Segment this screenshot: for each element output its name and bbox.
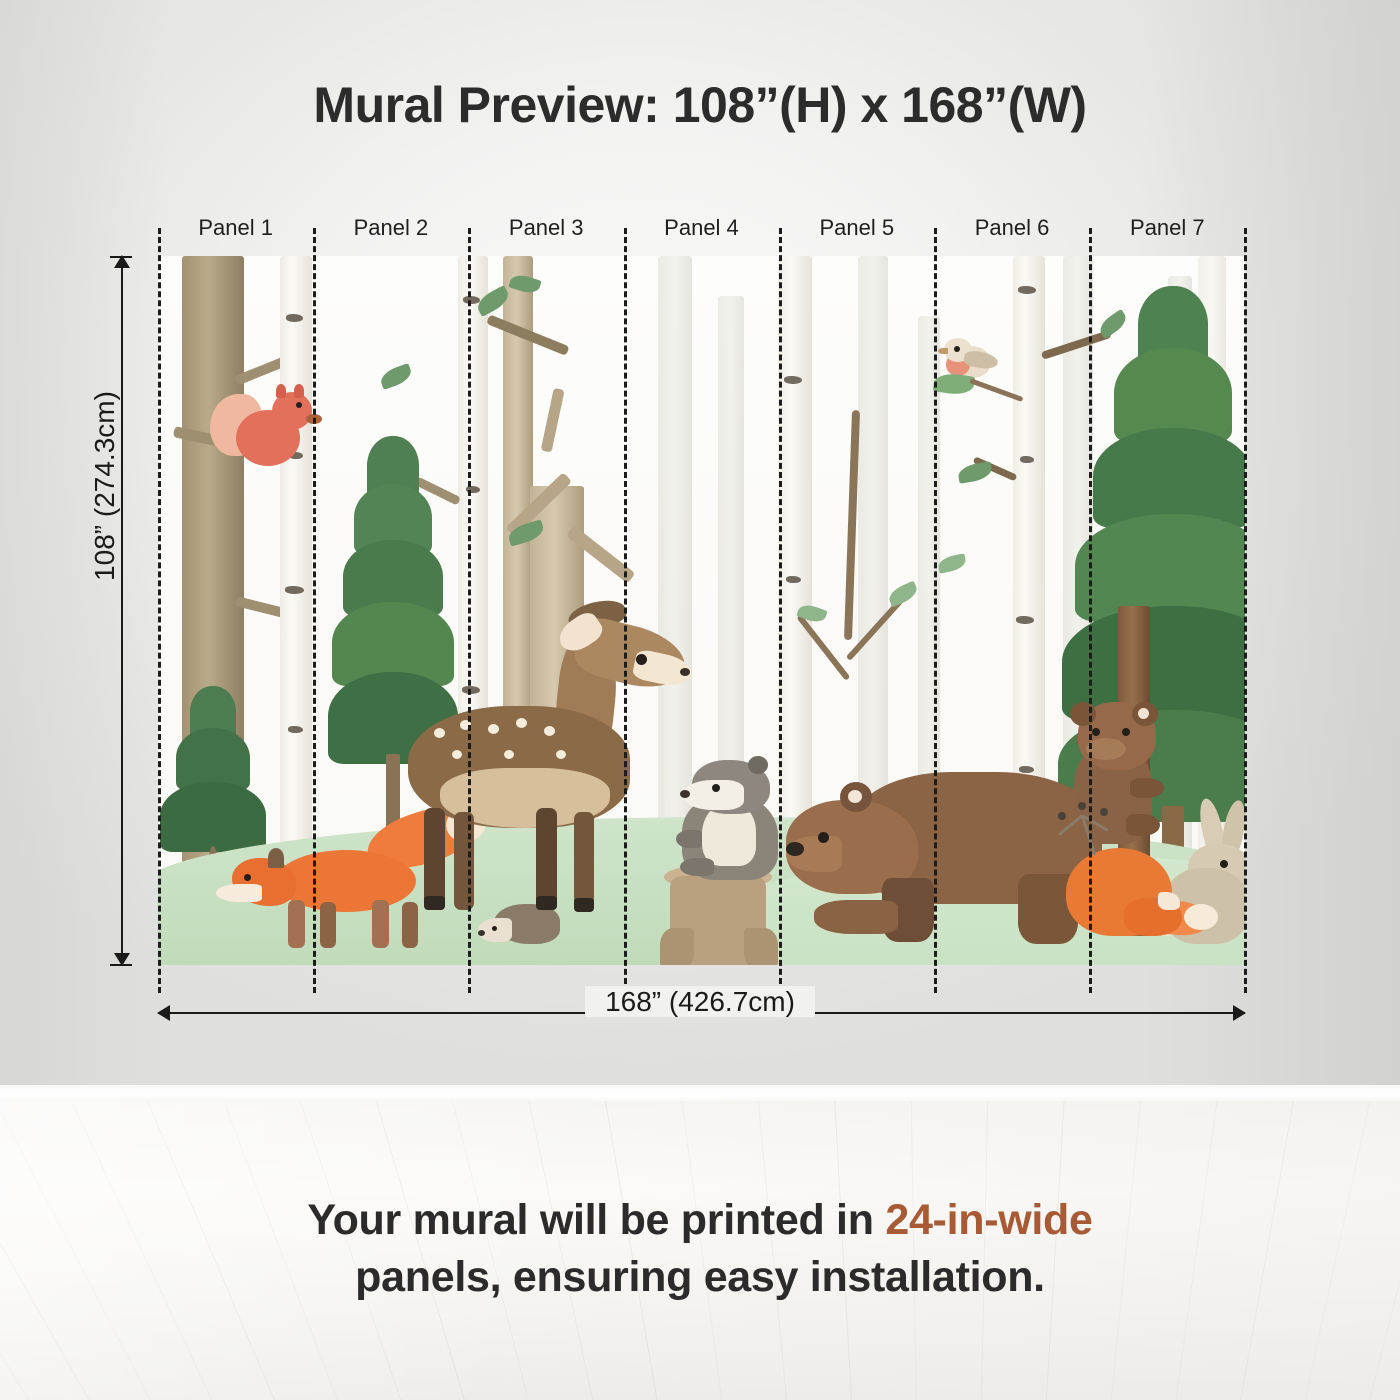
panel-divider-1 — [158, 228, 161, 993]
deer-hoof — [424, 896, 445, 910]
birch-mark — [784, 376, 802, 384]
rabbit-eye — [1220, 860, 1228, 868]
fox-snout — [216, 884, 262, 902]
berry — [1058, 812, 1066, 820]
badger — [654, 754, 784, 880]
panel-label-2: Panel 2 — [313, 213, 468, 245]
badger-eye — [712, 784, 720, 792]
berry — [1100, 808, 1108, 816]
berry — [1078, 802, 1086, 810]
panel-label-row: Panel 1 Panel 2 Panel 3 Panel 4 Panel 5 … — [158, 213, 1245, 245]
panel-divider-4 — [624, 228, 627, 993]
fox-eye — [244, 874, 251, 881]
badger-ear — [748, 756, 768, 774]
bear-eye — [818, 832, 829, 843]
badger-paw — [680, 858, 714, 876]
fox-leg — [320, 902, 336, 948]
berry-sprig — [1056, 802, 1118, 864]
badger-paw — [676, 830, 702, 848]
mural-artwork[interactable] — [158, 256, 1245, 965]
width-dimension-text: 168” (426.7cm) — [585, 986, 815, 1017]
squirrel-ear — [294, 384, 304, 398]
width-dimension-label: 168” (426.7cm) — [0, 986, 1400, 1018]
deer-spot — [488, 724, 499, 734]
caption-line-1: Your mural will be printed in 24-in-wide — [0, 1192, 1400, 1249]
caption-accent-text: 24-in-wide — [885, 1196, 1092, 1244]
height-dimension-label: 108” (274.3cm) — [89, 336, 121, 636]
deer-nose — [680, 668, 690, 676]
stump-root — [660, 928, 694, 965]
deer-leg — [536, 808, 557, 910]
footer-caption: Your mural will be printed in 24-in-wide… — [0, 1192, 1400, 1306]
panel-label-4: Panel 4 — [624, 213, 779, 245]
stump-root — [744, 928, 778, 965]
deer-hoof — [574, 898, 594, 912]
height-dimension-arrow — [121, 256, 123, 965]
cub-eye — [1122, 728, 1130, 736]
deer-spot — [504, 750, 514, 759]
caption-line1-text: Your mural will be printed in — [307, 1196, 885, 1244]
cub-eye — [1092, 728, 1100, 736]
deer-spot — [452, 750, 462, 759]
deer-eye — [636, 654, 647, 665]
panel-label-7: Panel 7 — [1090, 213, 1245, 245]
birch-mark — [1016, 616, 1034, 624]
deer-spot — [516, 718, 527, 728]
panel-divider-7 — [1089, 228, 1092, 993]
fox-leg — [372, 900, 389, 948]
birch-mark — [1018, 286, 1036, 294]
hedgehog-nose — [478, 930, 485, 936]
panel-divider-8 — [1244, 228, 1247, 993]
panel-divider-3 — [468, 228, 471, 993]
cub-snout — [1086, 738, 1126, 760]
birch-mark — [286, 314, 303, 322]
cub-ear-inner — [1138, 708, 1149, 719]
squirrel-eye — [296, 402, 302, 408]
bird-eye — [954, 346, 960, 352]
fox-ear — [268, 848, 284, 868]
wall-shadow-left — [0, 0, 170, 1100]
deer-leg — [574, 812, 594, 912]
deer-spot — [556, 750, 566, 759]
birch-mark — [786, 576, 801, 583]
fox-leg — [288, 900, 305, 948]
panel-label-1: Panel 1 — [158, 213, 313, 245]
bear-paw — [814, 900, 898, 934]
caption-line-2: panels, ensuring easy installation. — [0, 1249, 1400, 1306]
cub-paw — [1126, 814, 1160, 836]
deer-spot — [544, 726, 555, 736]
panel-label-5: Panel 5 — [779, 213, 934, 245]
bear-nose — [786, 842, 804, 856]
squirrel — [210, 384, 320, 484]
hedgehog-eye — [492, 926, 497, 931]
cub-paw — [1130, 778, 1164, 798]
birch-mark — [285, 586, 304, 594]
deer-leg — [454, 812, 474, 910]
deer-spot — [434, 728, 445, 738]
bird-beak — [938, 348, 948, 354]
sleeping-fox-ear — [1158, 892, 1180, 910]
squirrel-ear — [276, 384, 286, 398]
mural-preview-scene: Mural Preview: 108”(H) x 168”(W) Panel 1… — [0, 0, 1400, 1400]
panel-label-3: Panel 3 — [469, 213, 624, 245]
panel-label-6: Panel 6 — [934, 213, 1089, 245]
birch-mark — [288, 726, 303, 733]
sleeping-fox-tail-tip — [1184, 904, 1218, 930]
bear-ear-inner — [848, 790, 862, 803]
page-title: Mural Preview: 108”(H) x 168”(W) — [0, 76, 1400, 134]
birch-mark — [1020, 456, 1034, 463]
deer-hoof — [536, 896, 557, 910]
deer-leg — [424, 808, 445, 908]
cub-ear — [1070, 702, 1096, 726]
panel-divider-2 — [313, 228, 316, 993]
birch-mark — [463, 296, 480, 304]
panel-divider-6 — [934, 228, 937, 993]
panel-divider-5 — [779, 228, 782, 993]
badger-nose — [680, 790, 690, 798]
